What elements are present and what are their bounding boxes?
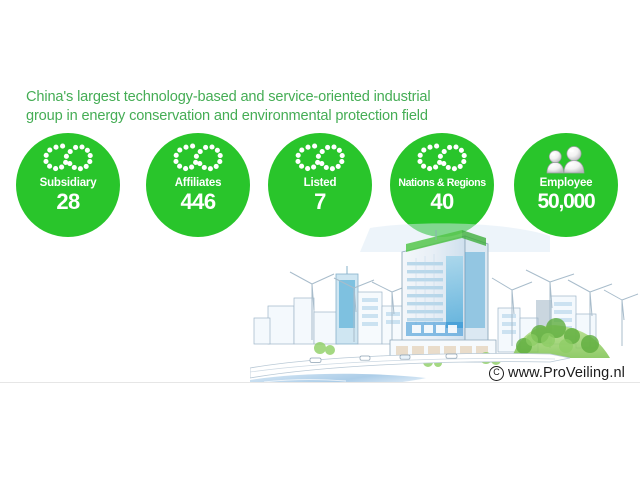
two-rings-dots-icon (170, 142, 226, 174)
stat-value: 50,000 (537, 190, 594, 214)
stat-value: 7 (314, 190, 326, 214)
page-title: China's largest technology-based and ser… (26, 88, 496, 125)
copyright-icon: C (489, 366, 504, 381)
watermark-url: www.ProVeiling.nl (508, 365, 625, 381)
stat-value: 40 (430, 190, 453, 214)
two-rings-dots-icon (414, 142, 470, 174)
two-rings-dots-icon (40, 142, 96, 174)
stat-value: 446 (181, 190, 216, 214)
infographic-image: China's largest technology-based and ser… (0, 0, 640, 480)
stat-value: 28 (56, 190, 79, 214)
stat-circle-subsidiary: Subsidiary 28 (16, 133, 120, 237)
watermark: C www.ProVeiling.nl (489, 365, 625, 381)
bottom-blank-area (0, 383, 640, 480)
stat-label: Employee (540, 177, 593, 190)
watercolor-cityscape-illustration (250, 222, 640, 382)
two-rings-dots-icon (292, 142, 348, 174)
stat-circle-affiliates: Affiliates 446 (146, 133, 250, 237)
two-people-icon (538, 142, 594, 174)
